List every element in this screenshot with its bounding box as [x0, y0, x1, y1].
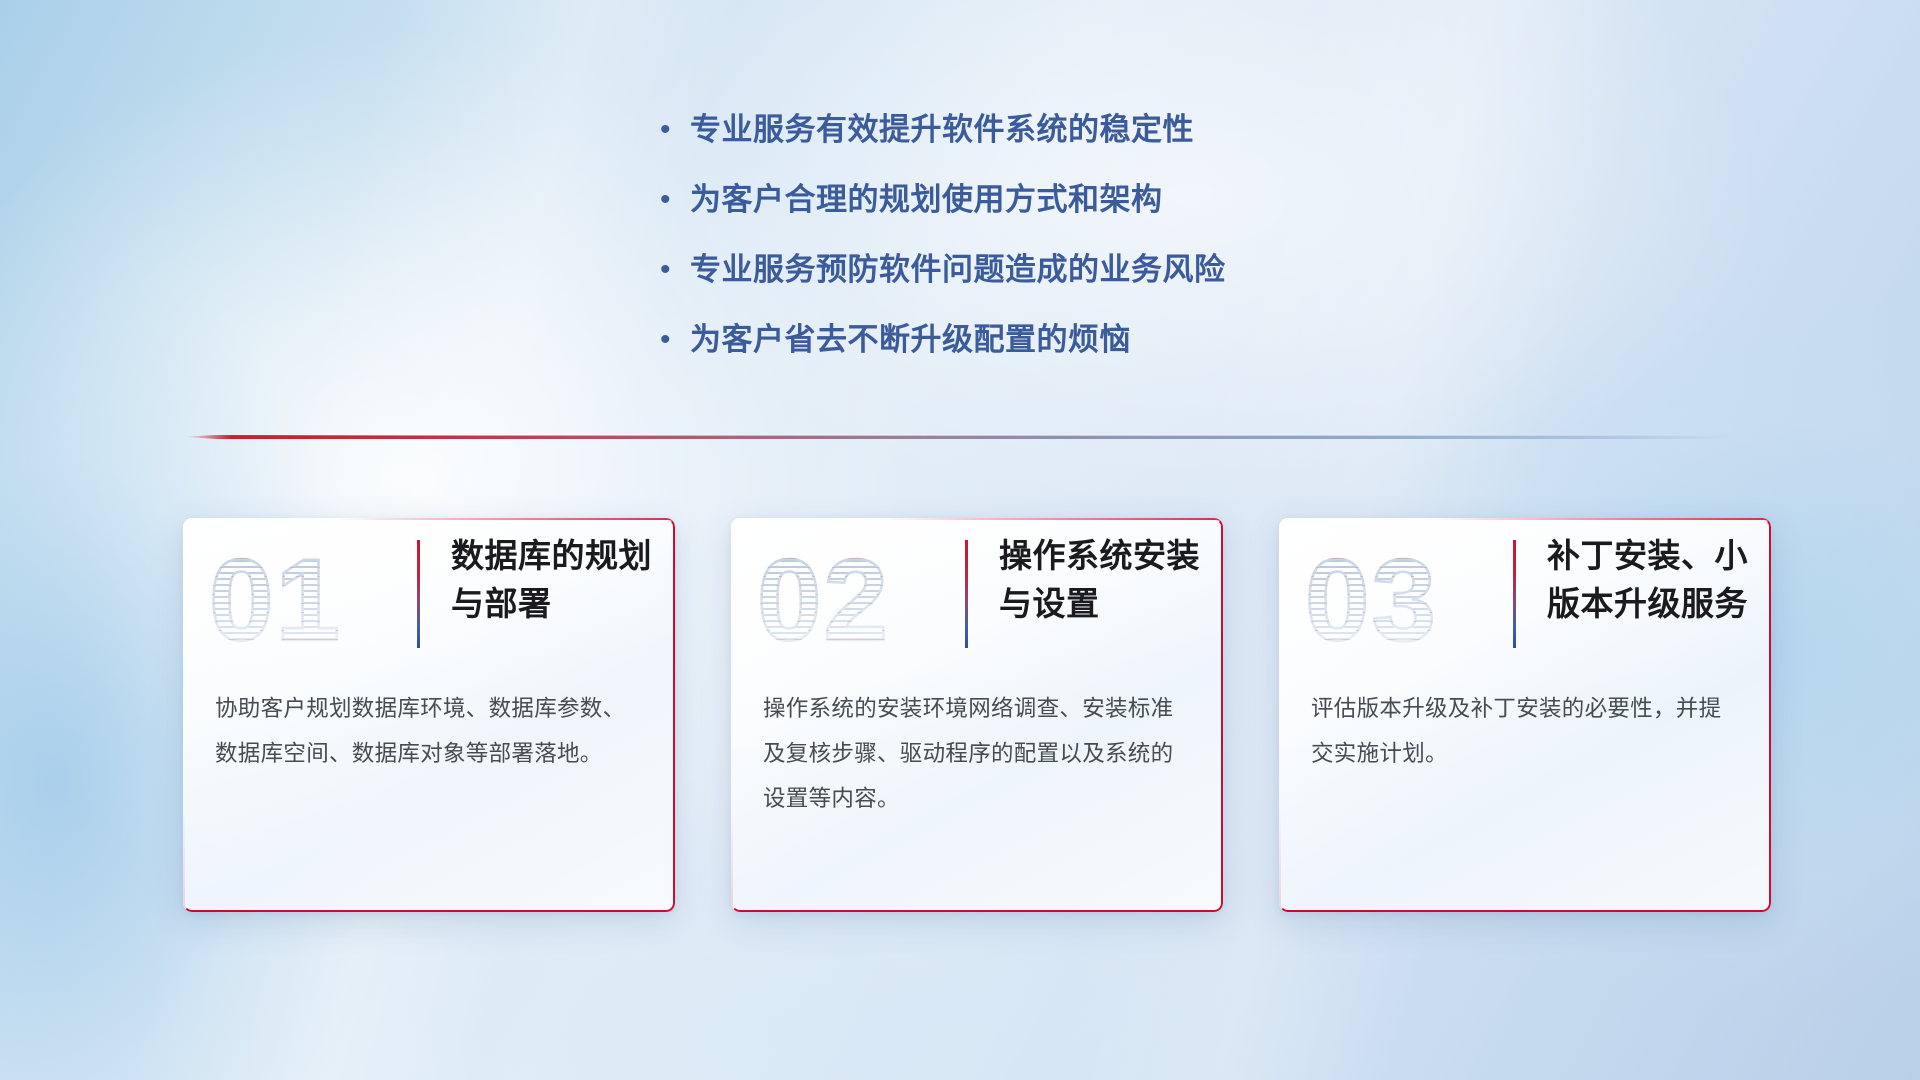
section-divider — [185, 432, 1730, 442]
bullet-item-label: 专业服务有效提升软件系统的稳定性 — [690, 110, 1194, 150]
bullet-item-label: 为客户合理的规划使用方式和架构 — [690, 180, 1163, 220]
card-header: 02 02 操作系统安装与设置 — [731, 518, 1223, 673]
bullet-item: • 专业服务预防软件问题造成的业务风险 — [660, 250, 1226, 290]
card-title-accent-bar — [417, 540, 420, 648]
slide-content: • 专业服务有效提升软件系统的稳定性 • 为客户合理的规划使用方式和架构 • 专… — [0, 0, 1920, 1080]
service-card-03[interactable]: 03 03 补丁安装、小版本升级服务 评估版本升级及补丁安装的必要性，并提交实施… — [1279, 518, 1771, 912]
bullet-item: • 为客户省去不断升级配置的烦恼 — [660, 320, 1226, 360]
benefits-bullet-list: • 专业服务有效提升软件系统的稳定性 • 为客户合理的规划使用方式和架构 • 专… — [660, 110, 1226, 360]
card-title: 操作系统安装与设置 — [999, 532, 1209, 628]
card-number-watermark-shade: 01 — [209, 542, 342, 658]
divider-highlight — [200, 434, 1730, 436]
bullet-dot-icon: • — [660, 320, 690, 360]
bullet-dot-icon: • — [660, 180, 690, 220]
bullet-dot-icon: • — [660, 110, 690, 150]
card-description: 评估版本升级及补丁安装的必要性，并提交实施计划。 — [1311, 686, 1741, 776]
card-header: 01 01 数据库的规划与部署 — [183, 518, 675, 673]
bullet-item-label: 为客户省去不断升级配置的烦恼 — [690, 320, 1131, 360]
card-header: 03 03 补丁安装、小版本升级服务 — [1279, 518, 1771, 673]
card-title-accent-bar — [1513, 540, 1516, 648]
card-title: 数据库的规划与部署 — [451, 532, 661, 628]
card-title: 补丁安装、小版本升级服务 — [1547, 532, 1757, 628]
service-card-01[interactable]: 01 01 数据库的规划与部署 协助客户规划数据库环境、数据库参数、数据库空间、… — [183, 518, 675, 912]
bullet-item: • 为客户合理的规划使用方式和架构 — [660, 180, 1226, 220]
card-number-watermark-shade: 03 — [1305, 542, 1438, 658]
card-description: 操作系统的安装环境网络调查、安装标准及复核步骤、驱动程序的配置以及系统的设置等内… — [763, 686, 1193, 821]
card-number-watermark-shade: 02 — [757, 542, 890, 658]
service-card-list: 01 01 数据库的规划与部署 协助客户规划数据库环境、数据库参数、数据库空间、… — [183, 518, 1771, 912]
card-title-accent-bar — [965, 540, 968, 648]
service-card-02[interactable]: 02 02 操作系统安装与设置 操作系统的安装环境网络调查、安装标准及复核步骤、… — [731, 518, 1223, 912]
bullet-dot-icon: • — [660, 250, 690, 290]
card-description: 协助客户规划数据库环境、数据库参数、数据库空间、数据库对象等部署落地。 — [215, 686, 645, 776]
bullet-item-label: 专业服务预防软件问题造成的业务风险 — [690, 250, 1226, 290]
bullet-item: • 专业服务有效提升软件系统的稳定性 — [660, 110, 1226, 150]
